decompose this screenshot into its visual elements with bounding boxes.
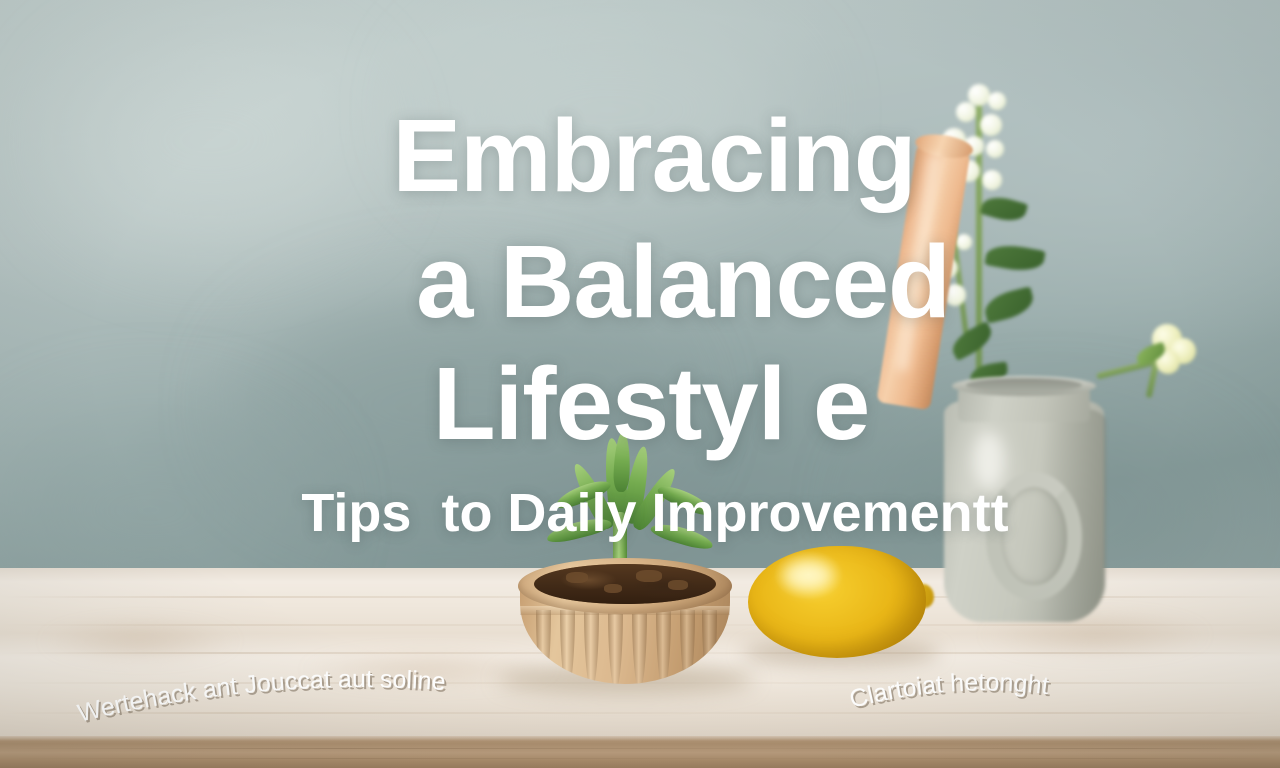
edge-grain-line	[0, 758, 1280, 759]
lemon-body	[748, 546, 926, 658]
caption-bottom-right: Clartoiat hetonght Clartoiat hetonght	[846, 660, 1146, 738]
lemon	[748, 546, 934, 664]
bowl-flute	[702, 610, 717, 684]
soil-clump	[668, 580, 688, 590]
table-front-edge	[0, 736, 1280, 768]
potting-soil	[534, 564, 716, 604]
caption-right-text: Clartoiat hetonght	[847, 668, 1051, 713]
bowl-flute	[656, 610, 671, 684]
soil-clump	[566, 572, 588, 583]
bowl-flute	[584, 610, 599, 684]
edge-grain-line	[0, 748, 1280, 749]
caption-bottom-left: Wertehack ant Jouccat aut soline Werteha…	[72, 660, 542, 738]
lifestyle-banner: Embracing a Balanced Lifestyl e Tips to …	[0, 0, 1280, 768]
bowl-flute	[560, 610, 575, 684]
caption-right-label: Clartoiat hetonght	[847, 668, 1051, 713]
soil-clump	[636, 570, 662, 582]
bowl-flute	[632, 610, 647, 684]
subheadline: Tips to Daily Improvementt	[0, 486, 1280, 540]
lemon-highlight	[784, 562, 832, 590]
potted-seedling-bowl	[512, 552, 738, 688]
headline-line-3: Lifestyl e	[0, 352, 1280, 455]
wood-knot	[40, 620, 240, 662]
headline-line-2: a Balanced	[0, 230, 1280, 333]
soil-clump	[604, 584, 622, 593]
bowl-flute	[608, 610, 623, 684]
headline-line-1: Embracing	[0, 104, 1280, 207]
bowl-flute	[680, 610, 695, 684]
